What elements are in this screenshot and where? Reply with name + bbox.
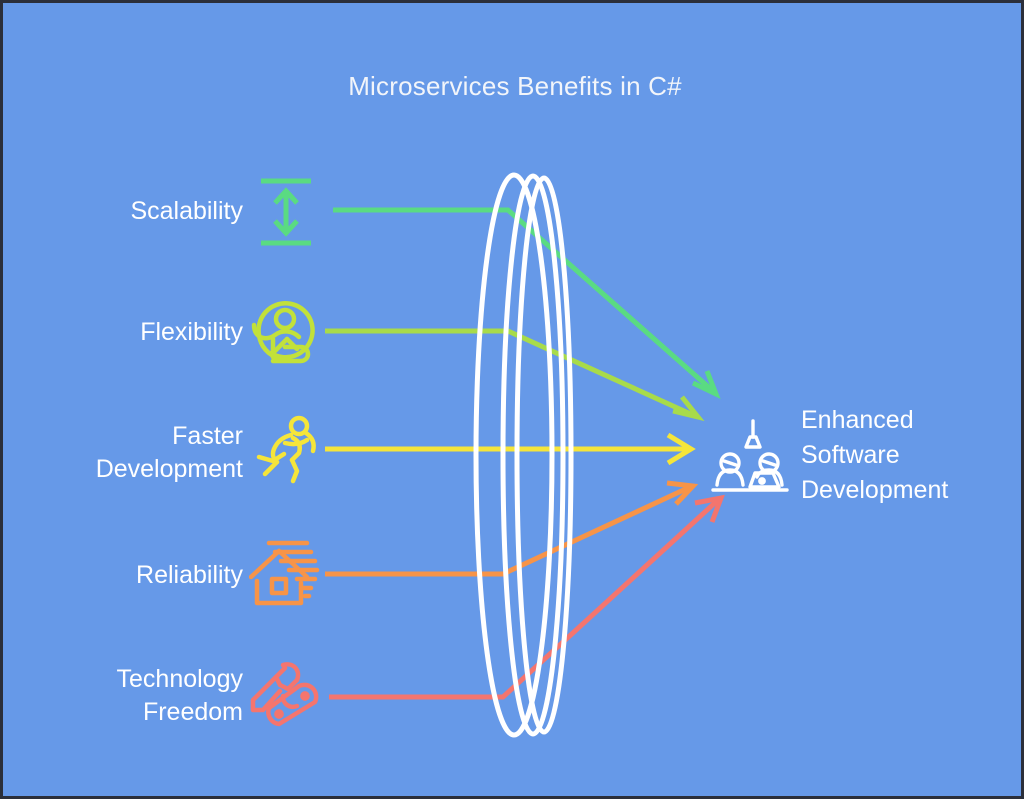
connector-faster-development bbox=[325, 435, 691, 463]
running-person-icon bbox=[249, 413, 323, 487]
benefit-label-flexibility: Flexibility bbox=[13, 316, 243, 349]
benefit-label-scalability: Scalability bbox=[13, 195, 243, 228]
diagram-canvas: Microservices Benefits in C# bbox=[0, 0, 1024, 799]
team-at-desk-icon bbox=[709, 419, 793, 499]
vertical-double-arrow-icon bbox=[249, 175, 323, 249]
house-speed-lines-icon bbox=[249, 537, 323, 611]
outcome-label: Enhanced Software Development bbox=[801, 403, 1016, 508]
benefit-label-technology-freedom: Technology Freedom bbox=[13, 663, 243, 729]
connector-scalability bbox=[333, 210, 716, 394]
benefit-label-faster-development: Faster Development bbox=[13, 420, 243, 486]
outcome-label-line-3: Development bbox=[801, 476, 948, 504]
outcome-label-line-1: Enhanced bbox=[801, 406, 914, 434]
benefit-label-line-1: Technology bbox=[117, 665, 243, 693]
wrench-screwdriver-icon bbox=[249, 658, 323, 732]
outcome-label-line-2: Software bbox=[801, 441, 900, 469]
connector-flexibility bbox=[325, 331, 698, 417]
converging-lens-shape bbox=[476, 175, 571, 735]
benefit-label-line-2: Development bbox=[96, 455, 243, 483]
benefit-label-reliability: Reliability bbox=[13, 559, 243, 592]
benefit-label-line-2: Freedom bbox=[143, 698, 243, 726]
benefit-label-line-1: Faster bbox=[172, 422, 243, 450]
connector-reliability bbox=[325, 483, 693, 574]
person-stretching-globe-icon bbox=[249, 295, 323, 369]
